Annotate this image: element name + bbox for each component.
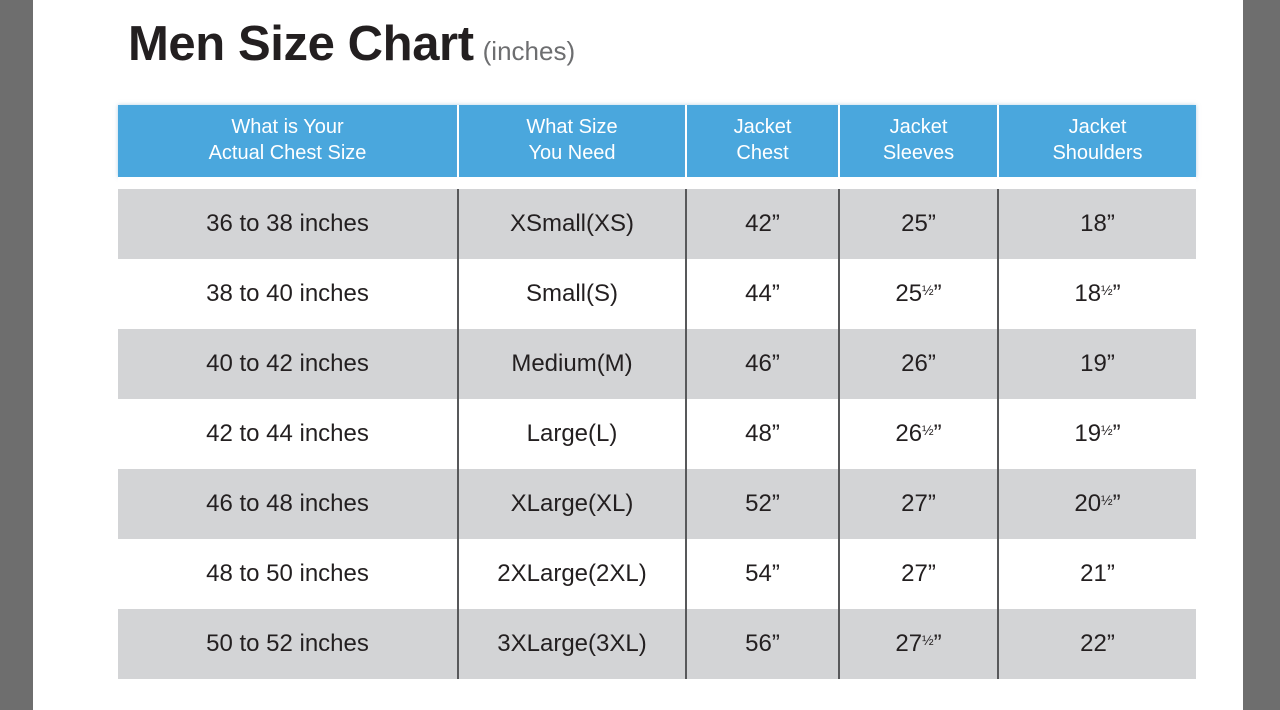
table-header-row: What is Your Actual Chest Size What Size… xyxy=(118,105,1196,177)
column-header-line2: You Need xyxy=(459,141,685,167)
column-header-size-needed: What Size You Need xyxy=(458,105,686,177)
column-header-line1: Jacket xyxy=(687,115,838,141)
cell-jacket-chest: 54” xyxy=(686,539,839,609)
column-header-line2: Shoulders xyxy=(999,141,1196,167)
left-edge-band xyxy=(0,0,33,710)
cell-jacket-shoulders: 19½” xyxy=(998,399,1196,469)
cell-jacket-shoulders: 18½” xyxy=(998,259,1196,329)
column-header-line2: Sleeves xyxy=(840,141,997,167)
table-row: 38 to 40 inches Small(S) 44” 25½” 18½” xyxy=(118,259,1196,329)
cell-jacket-sleeves: 27½” xyxy=(839,609,998,679)
cell-jacket-chest: 52” xyxy=(686,469,839,539)
cell-jacket-chest: 46” xyxy=(686,329,839,399)
table-row: 50 to 52 inches 3XLarge(3XL) 56” 27½” 22… xyxy=(118,609,1196,679)
cell-jacket-sleeves: 27” xyxy=(839,469,998,539)
column-header-jacket-shoulders: Jacket Shoulders xyxy=(998,105,1196,177)
cell-jacket-shoulders: 18” xyxy=(998,189,1196,259)
column-header-jacket-chest: Jacket Chest xyxy=(686,105,839,177)
cell-jacket-sleeves: 27” xyxy=(839,539,998,609)
column-header-line1: Jacket xyxy=(840,115,997,141)
cell-jacket-shoulders: 22” xyxy=(998,609,1196,679)
cell-actual-chest: 38 to 40 inches xyxy=(118,259,458,329)
header-body-gap xyxy=(118,177,1196,189)
column-header-line1: What is Your xyxy=(118,115,457,141)
cell-jacket-sleeves: 25” xyxy=(839,189,998,259)
cell-actual-chest: 50 to 52 inches xyxy=(118,609,458,679)
right-edge-band xyxy=(1243,0,1280,710)
cell-actual-chest: 42 to 44 inches xyxy=(118,399,458,469)
page-title-main: Men Size Chart xyxy=(128,20,474,69)
table-row: 42 to 44 inches Large(L) 48” 26½” 19½” xyxy=(118,399,1196,469)
page-title: Men Size Chart (inches) xyxy=(128,20,575,69)
cell-jacket-chest: 56” xyxy=(686,609,839,679)
column-header-line2: Actual Chest Size xyxy=(118,141,457,167)
cell-jacket-chest: 44” xyxy=(686,259,839,329)
cell-actual-chest: 36 to 38 inches xyxy=(118,189,458,259)
cell-jacket-shoulders: 21” xyxy=(998,539,1196,609)
column-header-jacket-sleeves: Jacket Sleeves xyxy=(839,105,998,177)
cell-jacket-shoulders: 19” xyxy=(998,329,1196,399)
cell-size-needed: XLarge(XL) xyxy=(458,469,686,539)
cell-size-needed: 3XLarge(3XL) xyxy=(458,609,686,679)
table-row: 36 to 38 inches XSmall(XS) 42” 25” 18” xyxy=(118,189,1196,259)
column-header-line2: Chest xyxy=(687,141,838,167)
page-title-unit: (inches) xyxy=(483,38,575,64)
size-chart-page: Men Size Chart (inches) What is Your Act… xyxy=(33,0,1243,710)
table-row: 48 to 50 inches 2XLarge(2XL) 54” 27” 21” xyxy=(118,539,1196,609)
cell-actual-chest: 46 to 48 inches xyxy=(118,469,458,539)
cell-jacket-sleeves: 25½” xyxy=(839,259,998,329)
cell-actual-chest: 40 to 42 inches xyxy=(118,329,458,399)
column-header-line1: What Size xyxy=(459,115,685,141)
cell-jacket-chest: 42” xyxy=(686,189,839,259)
men-size-chart-table: What is Your Actual Chest Size What Size… xyxy=(118,105,1196,679)
cell-actual-chest: 48 to 50 inches xyxy=(118,539,458,609)
cell-size-needed: 2XLarge(2XL) xyxy=(458,539,686,609)
cell-size-needed: XSmall(XS) xyxy=(458,189,686,259)
column-header-line1: Jacket xyxy=(999,115,1196,141)
cell-size-needed: Medium(M) xyxy=(458,329,686,399)
cell-jacket-sleeves: 26” xyxy=(839,329,998,399)
cell-jacket-chest: 48” xyxy=(686,399,839,469)
cell-jacket-shoulders: 20½” xyxy=(998,469,1196,539)
column-header-actual-chest: What is Your Actual Chest Size xyxy=(118,105,458,177)
cell-size-needed: Large(L) xyxy=(458,399,686,469)
table-row: 46 to 48 inches XLarge(XL) 52” 27” 20½” xyxy=(118,469,1196,539)
table-row: 40 to 42 inches Medium(M) 46” 26” 19” xyxy=(118,329,1196,399)
cell-size-needed: Small(S) xyxy=(458,259,686,329)
cell-jacket-sleeves: 26½” xyxy=(839,399,998,469)
